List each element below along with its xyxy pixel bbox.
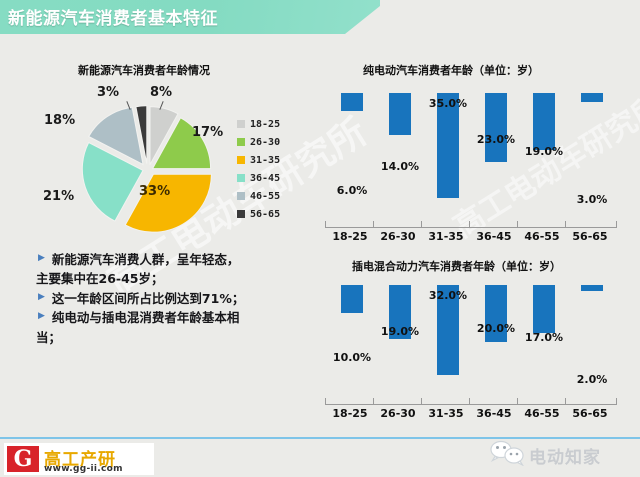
phev-category-36-45: 36-45 [471, 407, 517, 420]
phev-bar-chart: 10.0% 19.0% 32.0% 20.0% 17.0% 2.0% [325, 272, 625, 417]
legend-item-18-25[interactable]: 18-25 [237, 115, 280, 133]
wechat-branding: 电动知家 [487, 440, 637, 470]
bev-axis-tick [565, 221, 566, 227]
phev-category-26-30: 26-30 [375, 407, 421, 420]
bar-rect-36-45 [485, 93, 507, 162]
bar-column-18-25[interactable]: 6.0% [329, 93, 375, 218]
bar-column-31-35[interactable]: 35.0% [425, 93, 471, 218]
bev-category-46-55: 46-55 [519, 230, 565, 243]
bar-value-56-65: 3.0% [577, 193, 608, 206]
bar-column-56-65[interactable]: 3.0% [569, 93, 615, 218]
wechat-icon [487, 440, 529, 466]
pie-label-18-25: 8% [150, 85, 172, 100]
bev-axis-tick [517, 221, 518, 227]
phev-bar-column-31-35[interactable]: 32.0% [425, 285, 471, 395]
pie-legend: 18-25 26-30 31-35 36-45 46-55 56-65 [237, 115, 280, 223]
logo-website-url: www.gg-ii.com [44, 464, 123, 474]
phev-bar-value-18-25: 10.0% [333, 351, 371, 364]
bev-axis-tick [616, 221, 617, 227]
phev-bar-value-26-30: 19.0% [381, 325, 419, 338]
phev-axis-tick [373, 398, 374, 404]
phev-bar-rect-18-25 [341, 285, 363, 313]
bullet-item-1: ▶ 新能源汽车消费人群，呈年轻态， [36, 250, 318, 269]
legend-label-56-65: 56-65 [250, 209, 280, 220]
bullet-text-3: 纯电动与插电混消费者年龄基本相 [52, 308, 240, 327]
bullet-marker-icon: ▶ [38, 289, 45, 306]
bullet-text-1-cont: 主要集中在26-45岁； [36, 269, 163, 288]
phev-bar-column-56-65[interactable]: 2.0% [569, 285, 615, 395]
pie-label-31-35: 33% [139, 184, 170, 199]
slide-canvas: 新能源汽车消费者基本特征 高工电动车研究所 高工电动车研究所 新能源汽车消费者年… [0, 0, 640, 477]
pie-slice-31-35 [125, 174, 211, 232]
phev-bar-rect-56-65 [581, 285, 603, 291]
bev-chart-title: 纯电动汽车消费者年龄（单位：岁） [363, 62, 539, 78]
bev-category-36-45: 36-45 [471, 230, 517, 243]
bullet-marker-icon: ▶ [38, 308, 45, 325]
pie-label-56-65: 3% [97, 85, 119, 100]
phev-axis-tick [469, 398, 470, 404]
legend-swatch-icon-31-35 [237, 156, 245, 164]
bev-x-axis [325, 227, 617, 228]
phev-axis-tick [616, 398, 617, 404]
legend-label-18-25: 18-25 [250, 119, 280, 130]
legend-swatch-icon-46-55 [237, 192, 245, 200]
bullet-item-3-cont: 当； [36, 328, 318, 347]
bar-column-46-55[interactable]: 19.0% [521, 93, 567, 218]
legend-item-56-65[interactable]: 56-65 [237, 205, 280, 223]
phev-category-46-55: 46-55 [519, 407, 565, 420]
phev-bar-value-46-55: 17.0% [525, 331, 563, 344]
legend-item-26-30[interactable]: 26-30 [237, 133, 280, 151]
pie-label-46-55: 18% [44, 113, 75, 128]
bev-axis-tick [325, 221, 326, 227]
phev-category-31-35: 31-35 [423, 407, 469, 420]
footer-divider [0, 437, 640, 439]
wechat-account-name: 电动知家 [529, 443, 601, 468]
phev-axis-tick [325, 398, 326, 404]
phev-x-axis [325, 404, 617, 405]
bullet-marker-icon: ▶ [38, 250, 45, 267]
phev-axis-tick [517, 398, 518, 404]
pie-chart: 8% 17% 33% 21% 18% 3% [70, 95, 230, 240]
bullet-item-1-cont: 主要集中在26-45岁； [36, 269, 318, 288]
bev-axis-tick [373, 221, 374, 227]
pie-label-36-45: 21% [43, 189, 74, 204]
legend-label-31-35: 31-35 [250, 155, 280, 166]
bullet-item-2: ▶ 这一年龄区间所占比例达到71%； [36, 289, 318, 308]
pie-chart-svg [70, 95, 230, 240]
legend-swatch-icon-26-30 [237, 138, 245, 146]
legend-label-26-30: 26-30 [250, 137, 280, 148]
phev-bar-column-46-55[interactable]: 17.0% [521, 285, 567, 395]
bullet-text-1: 新能源汽车消费人群，呈年轻态， [52, 250, 240, 269]
pie-label-26-30: 17% [192, 125, 223, 140]
bullet-text-2: 这一年龄区间所占比例达到71%； [52, 289, 244, 308]
page-title: 新能源汽车消费者基本特征 [8, 4, 218, 29]
gaogong-logo: G 高工产研 www.gg-ii.com [4, 443, 154, 475]
bar-rect-18-25 [341, 93, 363, 111]
bev-bar-chart: 6.0% 14.0% 35.0% 23.0% 19.0% 3.0% [325, 80, 625, 240]
bar-value-18-25: 6.0% [337, 184, 368, 197]
pie-chart-title: 新能源汽车消费者年龄情况 [78, 62, 210, 78]
bar-column-26-30[interactable]: 14.0% [377, 93, 423, 218]
bar-rect-56-65 [581, 93, 603, 102]
logo-g-icon: G [7, 446, 39, 472]
bar-value-31-35: 35.0% [429, 97, 467, 110]
bar-value-46-55: 19.0% [525, 145, 563, 158]
bar-rect-46-55 [533, 93, 555, 150]
phev-bar-column-18-25[interactable]: 10.0% [329, 285, 375, 395]
bev-category-31-35: 31-35 [423, 230, 469, 243]
phev-category-18-25: 18-25 [327, 407, 373, 420]
legend-swatch-icon-18-25 [237, 120, 245, 128]
legend-item-31-35[interactable]: 31-35 [237, 151, 280, 169]
bullet-text-3-cont: 当； [36, 328, 61, 347]
bullet-item-3: ▶ 纯电动与插电混消费者年龄基本相 [36, 308, 318, 327]
phev-bar-column-36-45[interactable]: 20.0% [473, 285, 519, 395]
legend-item-36-45[interactable]: 36-45 [237, 169, 280, 187]
bev-category-56-65: 56-65 [567, 230, 613, 243]
phev-category-56-65: 56-65 [567, 407, 613, 420]
legend-label-36-45: 36-45 [250, 173, 280, 184]
bev-axis-tick [469, 221, 470, 227]
bar-rect-26-30 [389, 93, 411, 135]
bev-axis-tick [421, 221, 422, 227]
phev-axis-tick [421, 398, 422, 404]
phev-bar-value-31-35: 32.0% [429, 289, 467, 302]
legend-swatch-icon-56-65 [237, 210, 245, 218]
bar-value-36-45: 23.0% [477, 133, 515, 146]
phev-bar-column-26-30[interactable]: 19.0% [377, 285, 423, 395]
phev-bar-value-36-45: 20.0% [477, 322, 515, 335]
bev-category-18-25: 18-25 [327, 230, 373, 243]
phev-bar-rect-46-55 [533, 285, 555, 333]
bev-category-26-30: 26-30 [375, 230, 421, 243]
legend-label-46-55: 46-55 [250, 191, 280, 202]
bullet-list: ▶ 新能源汽车消费人群，呈年轻态， 主要集中在26-45岁； ▶ 这一年龄区间所… [36, 250, 318, 347]
title-banner: 新能源汽车消费者基本特征 [0, 0, 380, 34]
bar-value-26-30: 14.0% [381, 160, 419, 173]
bar-column-36-45[interactable]: 23.0% [473, 93, 519, 218]
legend-swatch-icon-36-45 [237, 174, 245, 182]
phev-axis-tick [565, 398, 566, 404]
legend-item-46-55[interactable]: 46-55 [237, 187, 280, 205]
phev-bar-value-56-65: 2.0% [577, 373, 608, 386]
